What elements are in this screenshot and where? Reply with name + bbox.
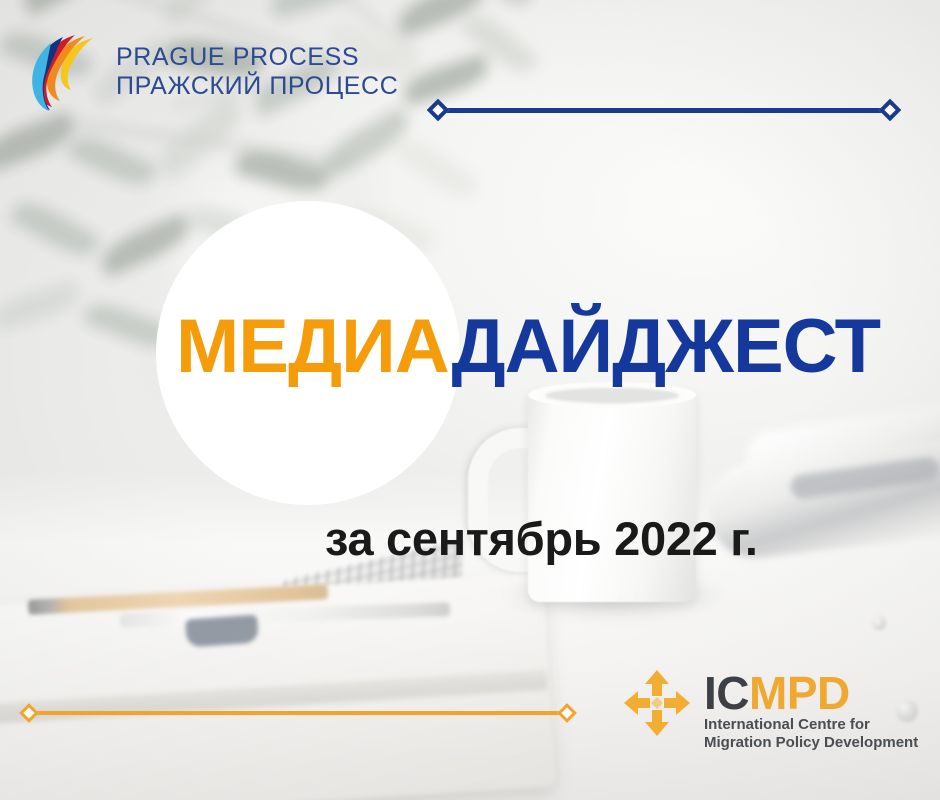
rule-bar [443, 108, 885, 113]
media-digest-poster: PRAGUE PROCESS ПРАЖСКИЙ ПРОЦЕСС МЕДИАДАЙ… [0, 0, 940, 800]
rule-bar [34, 711, 562, 715]
prague-process-name-en: PRAGUE PROCESS [116, 45, 398, 71]
icmpd-logo: ICMPD International Centre for Migration… [622, 668, 940, 753]
diamond-endpoint-icon [557, 703, 577, 723]
icmpd-tagline-line2: Migration Policy Development [704, 734, 918, 751]
icmpd-acronym-dark: IC [704, 667, 749, 719]
headline-word-main: ДАЙДЖЕСТ [451, 304, 880, 389]
prague-process-wordmark: PRAGUE PROCESS ПРАЖСКИЙ ПРОЦЕСС [116, 45, 398, 99]
page-title: МЕДИАДАЙДЖЕСТ [176, 309, 880, 385]
decorative-rule-top [430, 102, 898, 118]
diamond-endpoint-icon [427, 99, 450, 122]
diamond-endpoint-icon [19, 703, 39, 723]
icmpd-tagline: International Centre for Migration Polic… [704, 716, 918, 752]
subtitle: за сентябрь 2022 г. [325, 511, 758, 566]
prague-process-name-ru: ПРАЖСКИЙ ПРОЦЕСС [116, 74, 398, 100]
icmpd-tagline-line1: International Centre for [704, 716, 870, 733]
diamond-endpoint-icon [879, 99, 902, 122]
icmpd-acronym-accent: MPD [749, 667, 850, 719]
decorative-rule-bottom [22, 706, 574, 720]
icmpd-wordmark: ICMPD International Centre for Migration… [704, 668, 940, 753]
headline-word-accent: МЕДИА [176, 304, 451, 389]
icmpd-four-arrows-logo-icon [622, 668, 692, 738]
prague-process-swoosh-logo-icon [30, 32, 104, 112]
prague-process-logo: PRAGUE PROCESS ПРАЖСКИЙ ПРОЦЕСС [30, 32, 398, 112]
icmpd-acronym: ICMPD [704, 667, 850, 719]
